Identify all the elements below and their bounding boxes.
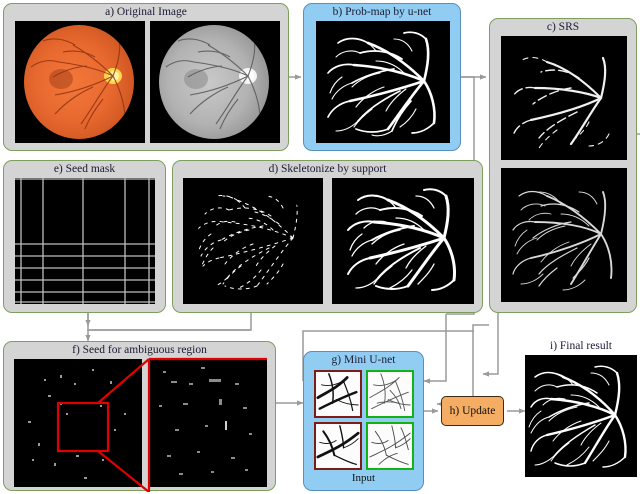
panel-c-srs: c) SRS	[489, 18, 637, 313]
panel-f-ambiguous-seed: f) Seed for ambiguous region	[3, 341, 276, 491]
output-patch-top-right	[366, 370, 414, 418]
image-grid-seed-mask	[15, 178, 155, 304]
panel-b-prob-map: b) Prob-map by u-net	[303, 3, 461, 151]
panel-a-title: a) Original Image	[4, 6, 288, 19]
image-final-result	[525, 355, 637, 477]
update-label: h) Update	[450, 405, 496, 417]
panel-c-title: c) SRS	[490, 21, 636, 34]
image-srs-full-tree	[501, 168, 627, 302]
image-color-fundus	[15, 21, 145, 143]
panel-g-title: g) Mini U-net	[304, 354, 423, 367]
zoom-callout-lines	[4, 342, 277, 492]
image-thick-skeleton	[332, 178, 474, 304]
image-srs-high-confidence	[501, 36, 627, 160]
panel-i-title: i) Final result	[523, 340, 639, 353]
update-button[interactable]: h) Update	[441, 396, 504, 426]
image-grayscale-fundus	[150, 21, 280, 143]
panel-d-skeletonize: d) Skeletonize by support	[172, 160, 483, 313]
image-vessel-probability-map	[316, 21, 450, 143]
panel-g-mini-unet: g) Mini U-net	[303, 351, 424, 491]
image-sparse-skeleton	[183, 178, 323, 304]
panel-a-original-image: a) Original Image	[3, 3, 289, 151]
input-patch-top-left	[314, 370, 362, 418]
panel-d-title: d) Skeletonize by support	[173, 163, 482, 176]
panel-b-title: b) Prob-map by u-net	[304, 6, 460, 19]
input-patch-bottom-left	[314, 422, 362, 470]
panel-e-seed-mask: e) Seed mask	[3, 160, 166, 313]
output-patch-bottom-right	[366, 422, 414, 470]
panel-e-title: e) Seed mask	[4, 163, 165, 176]
mini-unet-input-label: Input	[304, 472, 423, 484]
